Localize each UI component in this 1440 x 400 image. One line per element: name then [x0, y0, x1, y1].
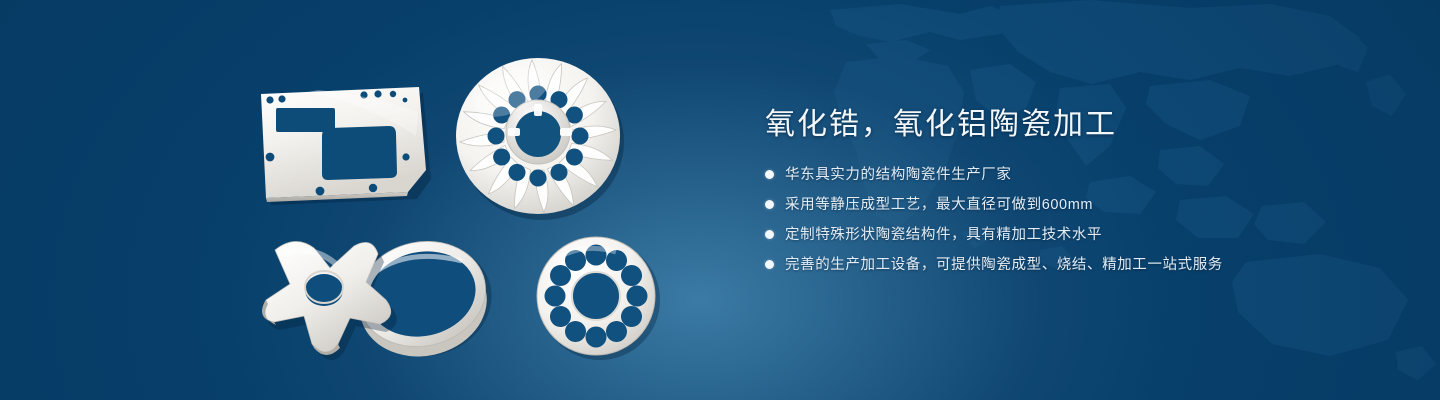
hero-banner: 氧化锆，氧化铝陶瓷加工 华东具实力的结构陶瓷件生产厂家 采用等静压成型工艺，最大…: [0, 0, 1440, 400]
product-ceramic-plate: [248, 78, 438, 206]
feature-list: 华东具实力的结构陶瓷件生产厂家 采用等静压成型工艺，最大直径可做到600mm 定…: [765, 164, 1405, 276]
feature-text: 华东具实力的结构陶瓷件生产厂家: [785, 164, 1012, 186]
list-item: 完善的生产加工设备，可提供陶瓷成型、烧结、精加工一站式服务: [765, 254, 1405, 276]
banner-copy: 氧化锆，氧化铝陶瓷加工 华东具实力的结构陶瓷件生产厂家 采用等静压成型工艺，最大…: [765, 106, 1405, 284]
bullet-dot-icon: [765, 260, 774, 269]
product-ceramic-impeller: [450, 48, 628, 224]
feature-text: 定制特殊形状陶瓷结构件，具有精加工技术水平: [785, 224, 1102, 246]
page-title: 氧化锆，氧化铝陶瓷加工: [765, 106, 1405, 144]
list-item: 采用等静压成型工艺，最大直径可做到600mm: [765, 194, 1405, 216]
bullet-dot-icon: [765, 200, 774, 209]
product-ceramic-perforated-disc: [530, 230, 666, 366]
list-item: 定制特殊形状陶瓷结构件，具有精加工技术水平: [765, 224, 1405, 246]
feature-text: 完善的生产加工设备，可提供陶瓷成型、烧结、精加工一站式服务: [785, 254, 1223, 276]
bullet-dot-icon: [765, 230, 774, 239]
product-ceramic-cross-plate: [250, 228, 410, 360]
bullet-dot-icon: [765, 170, 774, 179]
list-item: 华东具实力的结构陶瓷件生产厂家: [765, 164, 1405, 186]
feature-text: 采用等静压成型工艺，最大直径可做到600mm: [785, 194, 1093, 216]
ceramic-products-collage: [0, 0, 740, 400]
